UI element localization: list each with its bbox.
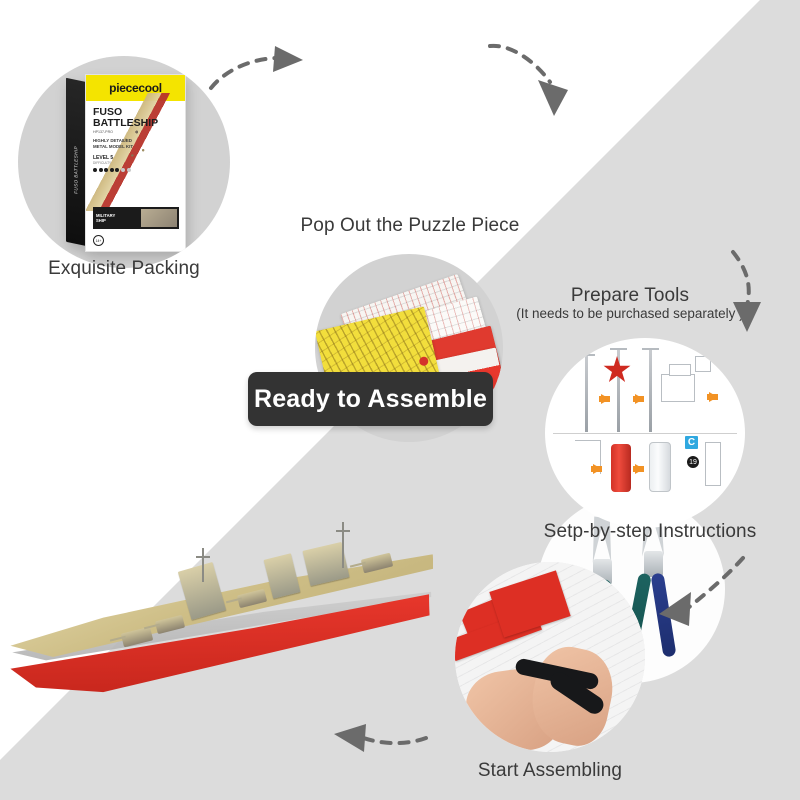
product-category-badge: MILITARY SHIP	[93, 207, 179, 229]
arrow-dash-path	[733, 252, 749, 306]
difficulty-dot	[110, 168, 114, 172]
arrow-dash-path	[683, 558, 743, 612]
product-box: FUSO BATTLESHIP piececool FUSO BATTLESHI…	[66, 74, 186, 252]
ready-to-assemble-label: Ready to Assemble	[254, 385, 487, 414]
step-instructions-caption: Setp-by-step Instructions	[520, 521, 780, 543]
product-title-line2: BATTLESHIP	[93, 118, 158, 129]
assembly-block	[705, 442, 721, 486]
arrow-head-icon	[334, 724, 366, 752]
white-cylinder-part	[649, 442, 671, 492]
red-cylinder-part	[611, 444, 631, 492]
ship-mast	[202, 548, 204, 582]
step-assembling-caption: Start Assembling	[420, 760, 680, 782]
arrow-dash-path	[211, 58, 279, 88]
part-number-marker: 19	[687, 456, 699, 468]
product-box-front: piececool FUSO BATTLESHIP HP137-PRO HIGH…	[85, 74, 186, 252]
process-arrow-icon	[601, 394, 610, 404]
instruction-illustration: C 19	[545, 338, 745, 528]
process-arrow-icon	[635, 464, 644, 474]
arrow-head-icon	[538, 80, 568, 116]
product-badge-thumbnail	[141, 209, 177, 227]
difficulty-dot-empty	[121, 168, 125, 172]
product-box-spine-text: FUSO BATTLESHIP	[74, 146, 79, 195]
arrow-dash-path	[358, 736, 426, 743]
step-packing-image: FUSO BATTLESHIP piececool FUSO BATTLESHI…	[18, 56, 230, 268]
step-instructions-image: C 19	[545, 338, 745, 528]
arrow-dash-path	[490, 46, 550, 82]
flow-arrow-1	[205, 28, 310, 88]
difficulty-dot	[93, 168, 97, 172]
arrow-head-icon	[733, 302, 761, 332]
difficulty-dots	[93, 168, 131, 172]
product-footer: 14+	[93, 235, 104, 246]
ship-mast	[342, 522, 344, 568]
difficulty-dot	[104, 168, 108, 172]
product-category-text: MILITARY SHIP	[93, 213, 118, 223]
part-letter-marker: C	[685, 436, 698, 449]
difficulty-dot	[115, 168, 119, 172]
step-packing-caption: Exquisite Packing	[18, 258, 230, 280]
product-box-spine: FUSO BATTLESHIP	[66, 78, 86, 246]
assembly-rod	[585, 354, 588, 432]
product-level-sub: DIFFICULTY	[93, 161, 113, 165]
assembly-block	[669, 364, 691, 376]
ready-to-assemble-badge: Ready to Assemble	[248, 372, 493, 426]
assembling-photo	[455, 562, 645, 752]
product-model-code: HP137-PRO	[93, 130, 113, 134]
instruction-divider	[553, 433, 737, 434]
product-category-line2: SHIP	[96, 218, 115, 223]
assembly-block	[661, 374, 695, 402]
process-arrow-icon	[709, 392, 718, 402]
assembly-rod	[649, 348, 652, 432]
product-title: FUSO BATTLESHIP	[93, 107, 158, 129]
flow-arrow-3	[725, 248, 775, 338]
assembly-block	[695, 356, 711, 372]
arrow-head-icon	[273, 46, 303, 72]
flow-arrow-2	[486, 38, 586, 118]
flow-arrow-4	[645, 552, 755, 657]
process-arrow-icon	[635, 394, 644, 404]
difficulty-dot	[99, 168, 103, 172]
process-arrow-icon	[593, 464, 602, 474]
infographic-canvas: FUSO BATTLESHIP piececool FUSO BATTLESHI…	[0, 0, 800, 800]
flow-arrow-5	[300, 690, 430, 750]
step-popout-caption: Pop Out the Puzzle Piece	[275, 215, 545, 237]
arrow-head-icon	[659, 592, 691, 626]
step-tools-caption: Prepare Tools	[505, 285, 755, 307]
product-description-line2: METAL MODEL KIT	[93, 144, 133, 150]
step-assembling-image	[455, 562, 645, 752]
product-level: LEVEL 5 DIFFICULTY	[93, 155, 113, 165]
age-warning-icon: 14+	[93, 235, 104, 246]
product-description: HIGHLY DETAILED METAL MODEL KIT	[93, 138, 133, 150]
difficulty-dot-empty	[127, 168, 131, 172]
